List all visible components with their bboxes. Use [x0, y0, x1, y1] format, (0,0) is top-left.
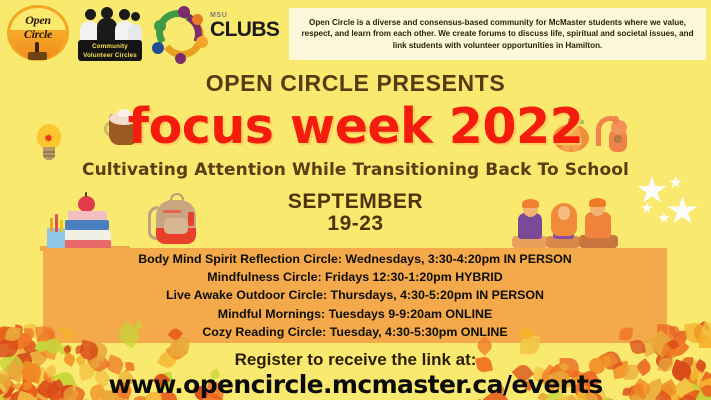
- description-box: Open Circle is a diverse and consensus-b…: [289, 8, 706, 60]
- description-text: Open Circle is a diverse and consensus-b…: [295, 17, 700, 52]
- cvc-people-silhouettes: [78, 5, 142, 43]
- schedule-panel: Body Mind Spirit Reflection Circle: Wedn…: [43, 248, 667, 343]
- schedule-line: Mindfulness Circle: Fridays 12:30-1:20pm…: [207, 268, 502, 286]
- poster-canvas: Open Circle Community Volunteer Circles: [0, 0, 711, 400]
- msu-clubs-wordmark: MSU CLUBS: [210, 12, 279, 41]
- schedule-line: Live Awake Outdoor Circle: Thursdays, 4:…: [166, 286, 544, 304]
- schedule-line: Body Mind Spirit Reflection Circle: Wedn…: [138, 250, 572, 268]
- event-url[interactable]: www.opencircle.mcmaster.ca/events: [0, 370, 711, 399]
- logo-bar: Open Circle Community Volunteer Circles: [0, 0, 711, 68]
- open-circle-word-open: Open: [6, 13, 70, 28]
- open-circle-logo: Open Circle: [6, 4, 70, 62]
- cvc-label-line2: Volunteer Circles: [83, 51, 137, 60]
- open-circle-word-circle: Circle: [6, 27, 70, 42]
- poster-title: focus week 2022: [0, 98, 711, 155]
- register-text: Register to receive the link at:: [0, 350, 711, 370]
- presents-label: OPEN CIRCLE PRESENTS: [0, 70, 711, 97]
- open-circle-base: [28, 52, 47, 60]
- schedule-line: Cozy Reading Circle: Tuesday, 4:30-5:30p…: [202, 323, 507, 341]
- community-volunteer-circles-logo: Community Volunteer Circles: [78, 5, 142, 61]
- clubs-label: CLUBS: [210, 19, 279, 41]
- msu-clubs-logo: [150, 6, 212, 62]
- cvc-label-line1: Community: [92, 42, 128, 51]
- event-dates: 19-23: [0, 212, 711, 236]
- event-month: SEPTEMBER: [0, 190, 711, 214]
- cvc-label-bar: Community Volunteer Circles: [78, 40, 142, 61]
- poster-subtitle: Cultivating Attention While Transitionin…: [0, 160, 711, 180]
- schedule-line: Mindful Mornings: Tuesdays 9-9:20am ONLI…: [218, 305, 492, 323]
